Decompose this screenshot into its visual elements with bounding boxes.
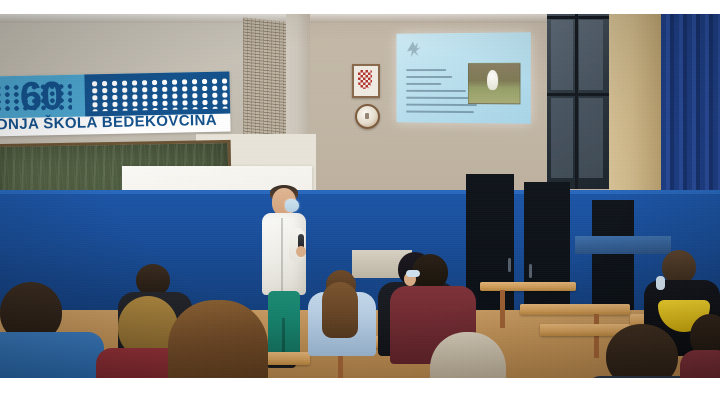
hall-curtain [661, 14, 720, 200]
slide-photo-subject [487, 70, 498, 90]
slide-embedded-photo [468, 63, 521, 105]
presentation-photograph: 60 EDNJA ŠKOLA BEDEKOVČINA [0, 14, 720, 378]
side-table [575, 236, 671, 254]
presenter-face-mask-icon [285, 199, 299, 212]
slide-figure-icon [405, 39, 426, 59]
school-anniversary-banner: 60 EDNJA ŠKOLA BEDEKOVČINA [0, 71, 231, 136]
bench-leg [594, 314, 599, 358]
student-face-mask-icon [656, 276, 665, 290]
letterbox-bottom [0, 378, 720, 405]
student-face-mask-icon [406, 270, 420, 277]
letterbox-top [0, 0, 720, 14]
student-head [662, 250, 696, 284]
doorway-3 [592, 200, 634, 310]
banner-dot-grid-right-icon [90, 77, 231, 111]
bench-leg [500, 290, 505, 328]
presenter-coat-seam [281, 218, 283, 294]
hall-window [547, 14, 609, 189]
student-hair [322, 282, 358, 338]
student-body [0, 332, 104, 378]
banner-number: 60 [19, 73, 62, 120]
ventilation-grille-icon [243, 18, 290, 143]
wall-clock-icon [355, 104, 380, 129]
presenter-hand [296, 246, 306, 257]
projection-screen [396, 32, 530, 124]
student-long-hair [168, 300, 268, 378]
banner-school-name: EDNJA ŠKOLA BEDEKOVČINA [0, 111, 232, 133]
coat-of-arms-frame [352, 64, 380, 98]
wainscot-trim [0, 190, 720, 194]
croatian-checkerboard-icon [358, 70, 372, 89]
photo-frame: 60 EDNJA ŠKOLA BEDEKOVČINA [0, 0, 720, 405]
clock-hands-icon [365, 113, 369, 119]
hall-column [609, 14, 661, 190]
bench-1 [480, 282, 576, 291]
bench-2 [520, 304, 630, 315]
student-body [680, 350, 720, 378]
